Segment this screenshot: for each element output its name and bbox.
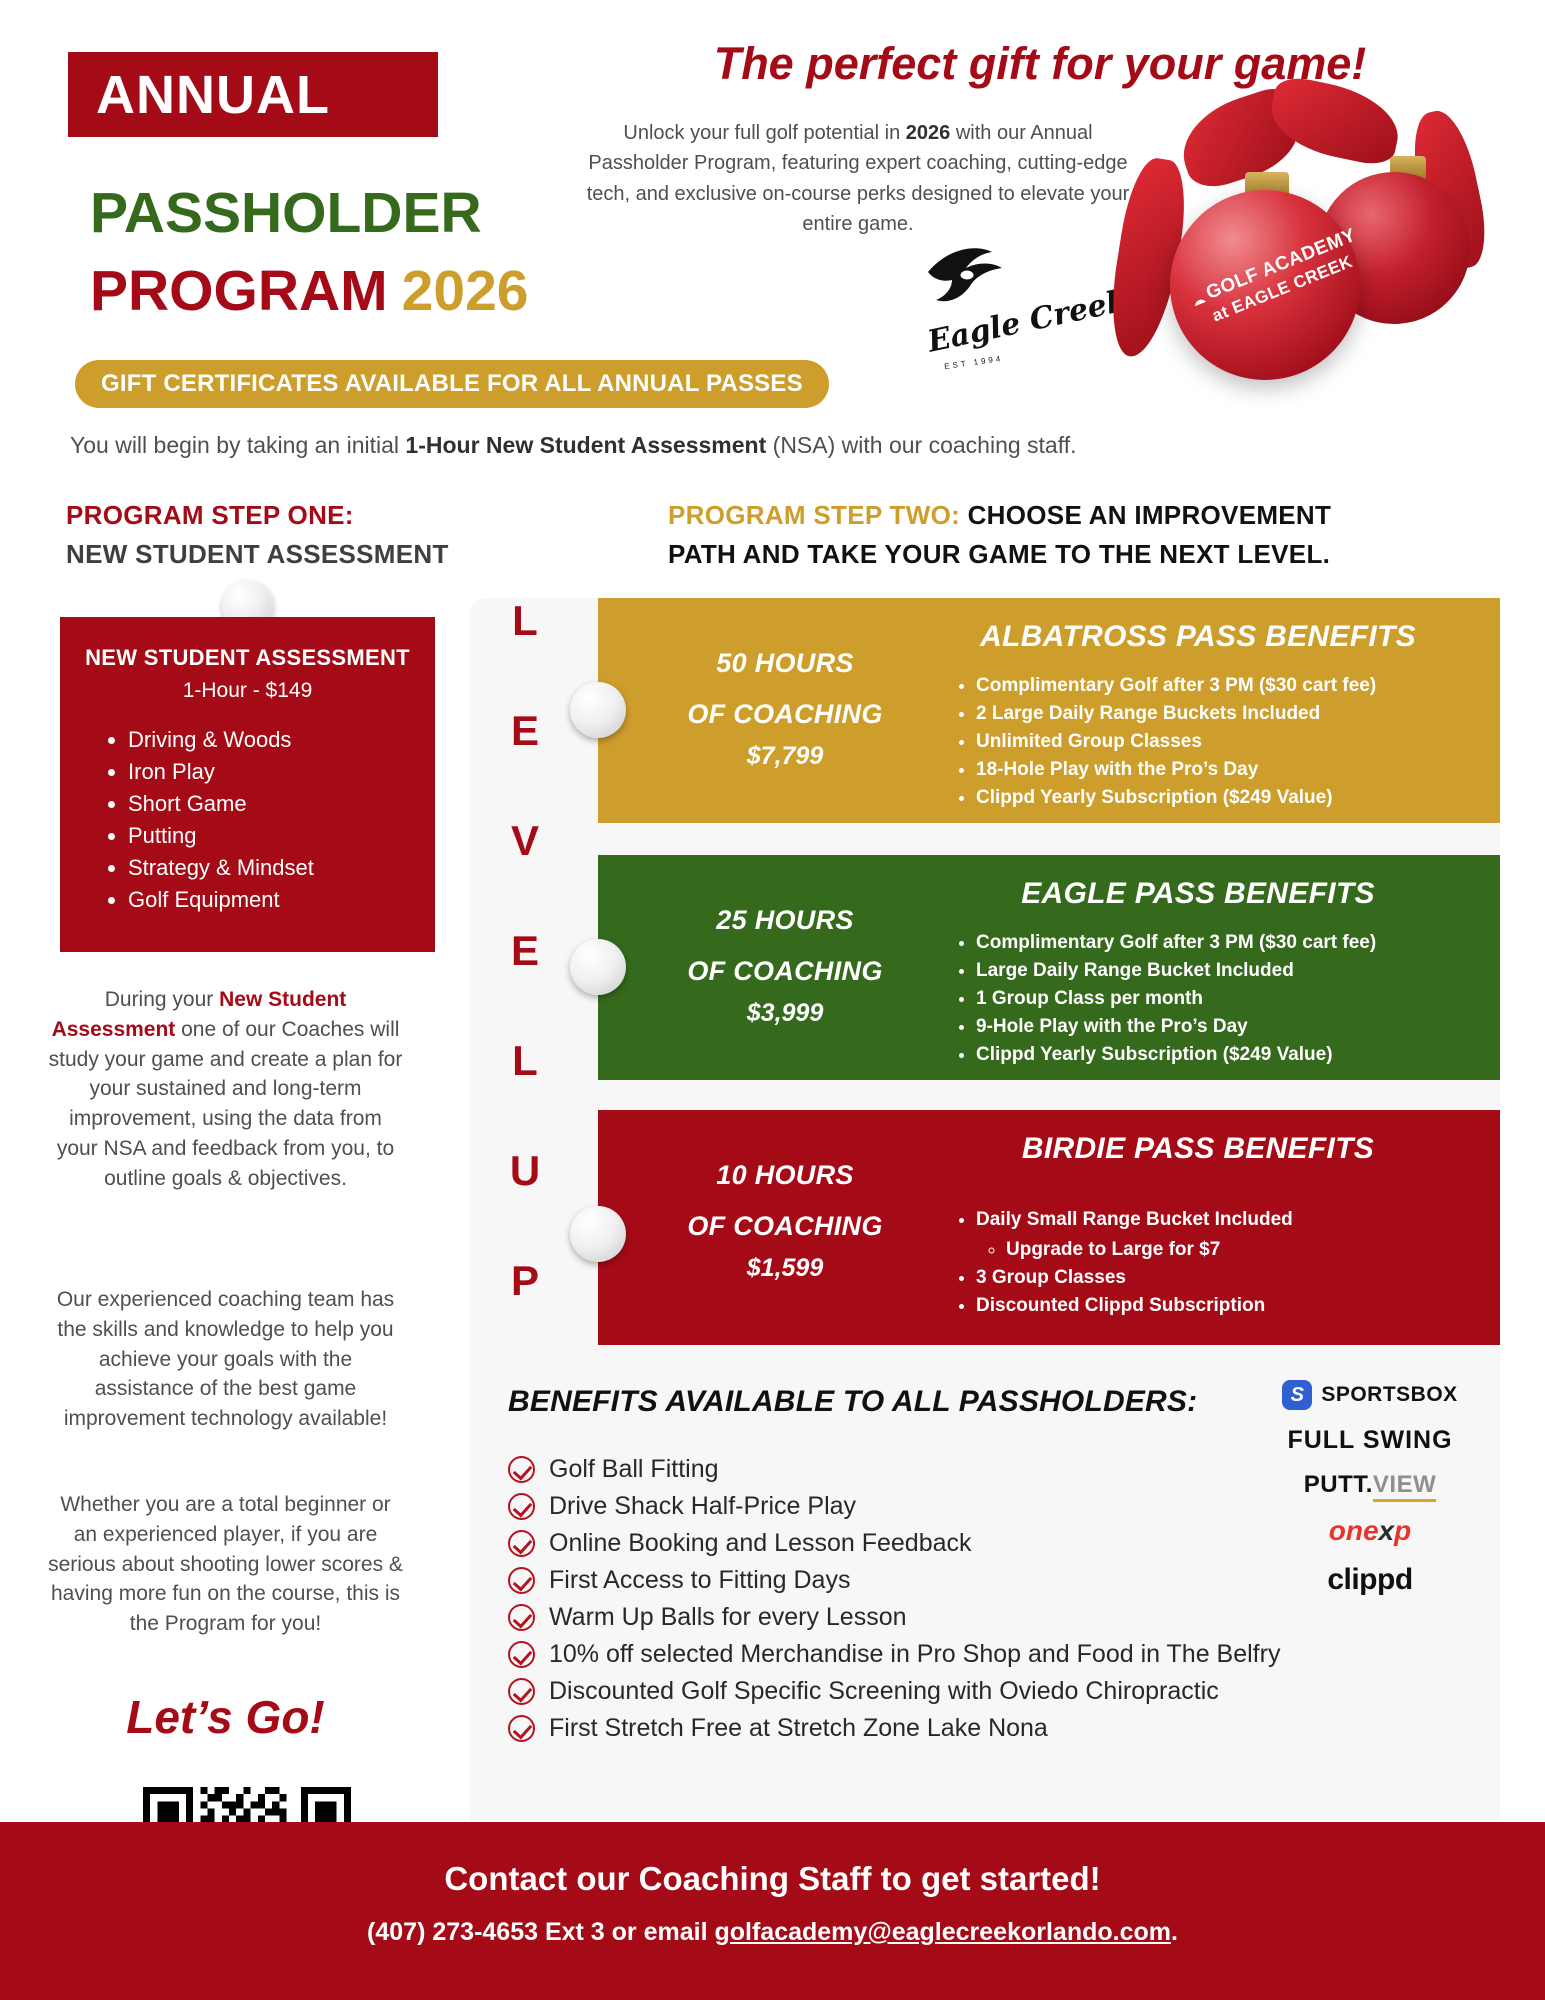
list-item: Clippd Yearly Subscription ($249 Value) xyxy=(976,1041,1536,1069)
check-circle-icon xyxy=(508,1493,535,1520)
subcopy-pre: Unlock your full golf potential in xyxy=(623,122,905,144)
list-item: 3 Group Classes xyxy=(976,1264,1536,1292)
puttview-logo: PUTT.VIEW xyxy=(1255,1471,1485,1499)
gift-certificates-badge: GIFT CERTIFICATES AVAILABLE FOR ALL ANNU… xyxy=(75,360,829,408)
albatross-hours: 50 HOURS xyxy=(660,648,910,679)
footer: Contact our Coaching Staff to get starte… xyxy=(0,1822,1545,2000)
birdie-coaching-label: OF COACHING xyxy=(660,1211,910,1242)
header-subcopy: Unlock your full golf potential in 2026 … xyxy=(578,118,1138,240)
eagle-pass-card[interactable]: 25 HOURS OF COACHING $3,999 EAGLE PASS B… xyxy=(598,855,1500,1080)
year-label: 2026 xyxy=(402,259,529,323)
eagle-title: EAGLE PASS BENEFITS xyxy=(928,877,1468,911)
list-item: 1 Group Class per month xyxy=(976,985,1536,1013)
list-item: Iron Play xyxy=(128,757,435,787)
program-step-two-heading: PROGRAM STEP TWO: CHOOSE AN IMPROVEMENT … xyxy=(668,500,1408,570)
benefit-label: First Access to Fitting Days xyxy=(549,1566,850,1595)
benefit-label: 10% off selected Merchandise in Pro Shop… xyxy=(549,1640,1280,1669)
check-circle-icon xyxy=(508,1715,535,1742)
list-item: 9-Hole Play with the Pro’s Day xyxy=(976,1013,1536,1041)
level-letter-p: P xyxy=(500,1260,550,1302)
all-passholders-title: BENEFITS AVAILABLE TO ALL PASSHOLDERS: xyxy=(508,1385,1197,1419)
footer-email-link[interactable]: golfacademy@eaglecreekorlando.com xyxy=(714,1918,1171,1946)
header: ANNUAL PASSHOLDER PROGRAM2026 GIFT CERTI… xyxy=(0,0,1545,430)
list-item: Putting xyxy=(128,821,435,851)
golf-ball-icon-albatross xyxy=(570,682,626,738)
level-letter-l1: L xyxy=(500,600,550,642)
list-item: Upgrade to Large for $7 xyxy=(1006,1236,1536,1264)
list-item: Short Game xyxy=(128,789,435,819)
benefit-label: Drive Shack Half-Price Play xyxy=(549,1492,856,1521)
check-circle-icon xyxy=(508,1678,535,1705)
left-p1-post: one of our Coaches will study your game … xyxy=(49,1018,403,1190)
nsa-card-price: 1-Hour - $149 xyxy=(60,679,435,703)
subcopy-year: 2026 xyxy=(906,122,951,144)
program-label: PROGRAM xyxy=(90,259,388,323)
step-one-title: PROGRAM STEP ONE: xyxy=(66,500,449,531)
eagle-hours-block: 25 HOURS OF COACHING $3,999 xyxy=(660,905,910,1028)
benefit-label: Discounted Golf Specific Screening with … xyxy=(549,1677,1219,1706)
nsa-intro-pre: You will begin by taking an initial xyxy=(70,432,405,458)
list-item: Large Daily Range Bucket Included xyxy=(976,957,1536,985)
check-circle-icon xyxy=(508,1530,535,1557)
onexp-label-a: one xyxy=(1329,1515,1379,1546)
left-paragraph-2: Our experienced coaching team has the sk… xyxy=(48,1285,403,1434)
sportsbox-label: SPORTSBOX xyxy=(1321,1383,1457,1407)
check-circle-icon xyxy=(508,1641,535,1668)
birdie-hours-block: 10 HOURS OF COACHING $1,599 xyxy=(660,1160,910,1283)
gift-certificates-label: GIFT CERTIFICATES AVAILABLE FOR ALL ANNU… xyxy=(101,370,803,398)
left-paragraph-3: Whether you are a total beginner or an e… xyxy=(48,1490,403,1639)
level-letter-v: V xyxy=(500,820,550,862)
albatross-price: $7,799 xyxy=(660,742,910,771)
onexp-logo: onexp xyxy=(1255,1515,1485,1547)
list-item: 18-Hole Play with the Pro’s Day xyxy=(976,756,1536,784)
onexp-label-b: p xyxy=(1394,1515,1411,1546)
program-year-line: PROGRAM2026 xyxy=(90,263,528,320)
albatross-pass-card[interactable]: 50 HOURS OF COACHING $7,799 ALBATROSS PA… xyxy=(598,598,1500,823)
christmas-ornament-graphic: GOLF ACADEMY at EAGLE CREEK xyxy=(1060,80,1500,380)
birdie-title: BIRDIE PASS BENEFITS xyxy=(928,1132,1468,1166)
clippd-logo: clippd xyxy=(1255,1563,1485,1597)
eagle-creek-est: EST 1994 xyxy=(944,354,1004,371)
partner-logos: SPORTSBOX FULL SWING PUTT.VIEW onexp cli… xyxy=(1255,1380,1485,1613)
check-circle-icon xyxy=(508,1567,535,1594)
lets-go-text: Let’s Go! xyxy=(48,1690,403,1744)
nsa-intro-bold: 1-Hour New Student Assessment xyxy=(405,432,766,458)
level-letter-e1: E xyxy=(500,710,550,752)
left-p1-pre: During your xyxy=(105,988,219,1011)
level-letter-l2: L xyxy=(500,1040,550,1082)
list-item: Complimentary Golf after 3 PM ($30 cart … xyxy=(976,672,1536,700)
passholder-label: PASSHOLDER xyxy=(90,185,482,242)
new-student-assessment-card: NEW STUDENT ASSESSMENT 1-Hour - $149 Dri… xyxy=(60,617,435,952)
eagle-benefits-list: Complimentary Golf after 3 PM ($30 cart … xyxy=(938,929,1536,1070)
golf-ball-icon-eagle xyxy=(570,939,626,995)
nsa-card-list: Driving & Woods Iron Play Short Game Put… xyxy=(60,725,435,914)
step-one-subtitle: NEW STUDENT ASSESSMENT xyxy=(66,539,449,570)
step-two-line2: PATH AND TAKE YOUR GAME TO THE NEXT LEVE… xyxy=(668,539,1408,570)
albatross-benefits-list: Complimentary Golf after 3 PM ($30 cart … xyxy=(938,672,1536,813)
birdie-pass-card[interactable]: 10 HOURS OF COACHING $1,599 BIRDIE PASS … xyxy=(598,1110,1500,1345)
step-two-line1: CHOOSE AN IMPROVEMENT xyxy=(968,500,1332,530)
list-item: Complimentary Golf after 3 PM ($30 cart … xyxy=(976,929,1536,957)
list-item: 2 Large Daily Range Buckets Included xyxy=(976,700,1536,728)
albatross-hours-block: 50 HOURS OF COACHING $7,799 xyxy=(660,648,910,771)
level-up-letters: L E V E L U P xyxy=(500,600,550,1302)
list-item: Discounted Golf Specific Screening with … xyxy=(508,1677,1468,1706)
list-item: First Stretch Free at Stretch Zone Lake … xyxy=(508,1714,1468,1743)
benefit-label: Warm Up Balls for every Lesson xyxy=(549,1603,907,1632)
eagle-hours: 25 HOURS xyxy=(660,905,910,936)
golf-ball-icon-birdie xyxy=(570,1206,626,1262)
birdie-sub-list: Upgrade to Large for $7 xyxy=(976,1236,1536,1264)
list-item: Discounted Clippd Subscription xyxy=(976,1292,1536,1320)
list-item: Driving & Woods xyxy=(128,725,435,755)
flyer-page: ANNUAL PASSHOLDER PROGRAM2026 GIFT CERTI… xyxy=(0,0,1545,2000)
nsa-intro-post: (NSA) with our coaching staff. xyxy=(766,432,1076,458)
puttview-label-b: VIEW xyxy=(1373,1471,1436,1502)
benefit-label: Online Booking and Lesson Feedback xyxy=(549,1529,972,1558)
onexp-label-x: x xyxy=(1379,1515,1395,1546)
birdie-hours: 10 HOURS xyxy=(660,1160,910,1191)
footer-period: . xyxy=(1171,1918,1178,1946)
list-item: Golf Equipment xyxy=(128,885,435,915)
list-item: Unlimited Group Classes xyxy=(976,728,1536,756)
annual-banner: ANNUAL xyxy=(68,52,438,137)
fullswing-logo: FULL SWING xyxy=(1255,1426,1485,1455)
eagle-price: $3,999 xyxy=(660,999,910,1028)
check-circle-icon xyxy=(508,1604,535,1631)
footer-phone: (407) 273-4653 Ext 3 or email xyxy=(367,1918,714,1946)
puttview-label-a: PUTT. xyxy=(1304,1471,1373,1498)
sportsbox-icon xyxy=(1282,1380,1312,1410)
ornament-ball-main xyxy=(1170,190,1360,380)
eagle-coaching-label: OF COACHING xyxy=(660,956,910,987)
list-item: 10% off selected Merchandise in Pro Shop… xyxy=(508,1640,1468,1669)
list-item: Clippd Yearly Subscription ($249 Value) xyxy=(976,784,1536,812)
albatross-coaching-label: OF COACHING xyxy=(660,699,910,730)
birdie-price: $1,599 xyxy=(660,1254,910,1283)
list-item: Strategy & Mindset xyxy=(128,853,435,883)
level-letter-u: U xyxy=(500,1150,550,1192)
nsa-card-title: NEW STUDENT ASSESSMENT xyxy=(60,645,435,671)
left-paragraph-1: During your New Student Assessment one o… xyxy=(48,985,403,1194)
footer-cta: Contact our Coaching Staff to get starte… xyxy=(0,1860,1545,1898)
benefit-label: Golf Ball Fitting xyxy=(549,1455,719,1484)
level-letter-e2: E xyxy=(500,930,550,972)
nsa-intro-sentence: You will begin by taking an initial 1-Ho… xyxy=(70,432,1400,459)
benefit-label: First Stretch Free at Stretch Zone Lake … xyxy=(549,1714,1048,1743)
check-circle-icon xyxy=(508,1456,535,1483)
eagle-creek-logo: Eagle Creek EST 1994 xyxy=(900,242,1070,382)
albatross-title: ALBATROSS PASS BENEFITS xyxy=(928,620,1468,654)
footer-contact: (407) 273-4653 Ext 3 or email golfacadem… xyxy=(0,1918,1545,1947)
program-step-one-heading: PROGRAM STEP ONE: NEW STUDENT ASSESSMENT xyxy=(66,500,449,570)
list-item: Daily Small Range Bucket Included xyxy=(976,1206,1536,1234)
sportsbox-logo: SPORTSBOX xyxy=(1255,1380,1485,1410)
annual-label: ANNUAL xyxy=(96,64,330,126)
birdie-benefits-list: Daily Small Range Bucket Included Upgrad… xyxy=(938,1206,1536,1320)
step-two-title: PROGRAM STEP TWO: xyxy=(668,500,960,530)
